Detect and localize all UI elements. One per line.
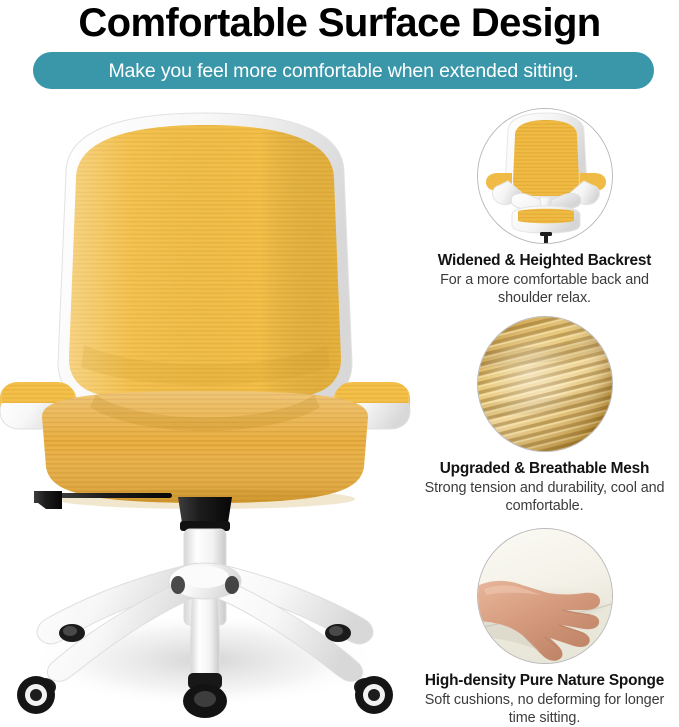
chair-illustration <box>0 95 420 720</box>
feature-description: Soft cushions, no deforming for longer t… <box>420 691 670 727</box>
subtitle-text: Make you feel more comfortable when exte… <box>108 61 578 81</box>
feature-card-mesh: Upgraded & Breathable Mesh Strong tensio… <box>410 308 679 516</box>
caster-mid-right <box>354 676 393 714</box>
caster-rear-left <box>59 624 85 642</box>
mesh-fabric-closeup-photo <box>477 316 613 452</box>
feature-card-backrest: Widened & Heighted Backrest For a more c… <box>410 100 679 308</box>
feature-card-sponge: High-density Pure Nature Sponge Soft cus… <box>410 520 679 726</box>
caster-mid-left <box>17 676 56 714</box>
caster-front-center <box>183 673 227 718</box>
seat-cushion <box>42 391 368 509</box>
feature-title: High-density Pure Nature Sponge <box>410 671 679 690</box>
page-title: Comfortable Surface Design <box>0 0 679 48</box>
hand-pressing-sponge-photo <box>477 528 613 664</box>
backrest-mesh <box>58 113 352 407</box>
caster-rear-right <box>325 624 351 642</box>
feature-list: Widened & Heighted Backrest For a more c… <box>410 100 679 726</box>
feature-title: Widened & Heighted Backrest <box>410 251 679 270</box>
header: Comfortable Surface Design Make you feel… <box>0 0 679 100</box>
feature-description: For a more comfortable back and shoulder… <box>420 271 670 307</box>
subtitle-banner: Make you feel more comfortable when exte… <box>33 52 654 89</box>
product-chair-image <box>0 95 420 720</box>
feature-title: Upgraded & Breathable Mesh <box>410 459 679 478</box>
chair-back-view-photo <box>477 108 613 244</box>
feature-description: Strong tension and durability, cool and … <box>420 479 670 515</box>
five-star-base <box>37 563 373 681</box>
